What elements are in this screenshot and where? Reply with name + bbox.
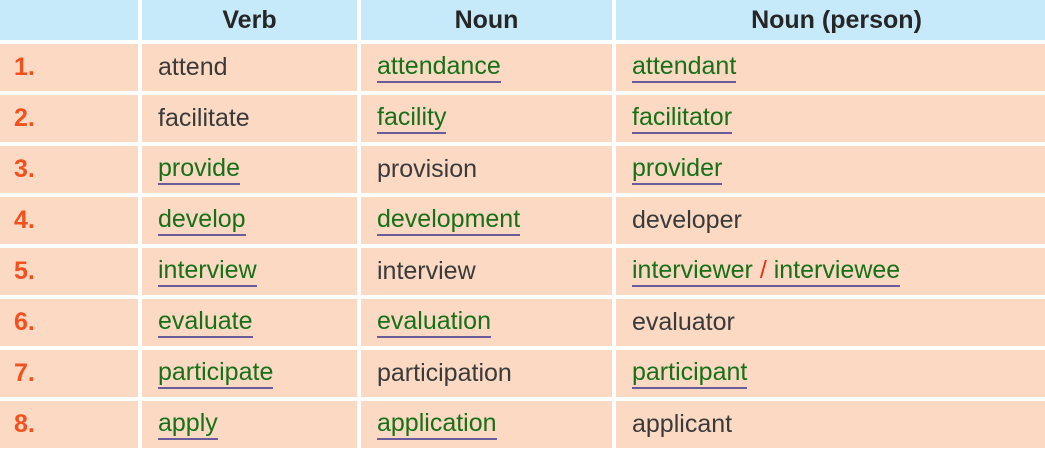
- row-number: 4.: [0, 197, 138, 244]
- cell-noun-person: applicant: [616, 401, 1045, 448]
- word-text-noun-person: applicant: [632, 410, 732, 438]
- header-cell-verb: Verb: [142, 0, 357, 40]
- word-part-secondary: interviewee: [767, 256, 900, 284]
- word-text-noun: participation: [377, 359, 512, 387]
- cell-verb: attend: [142, 44, 357, 91]
- cell-noun: provision: [361, 146, 612, 193]
- word-link-noun[interactable]: evaluation: [377, 308, 491, 337]
- word-text-verb: facilitate: [158, 104, 250, 132]
- word-text-noun: provision: [377, 155, 477, 183]
- cell-verb: apply: [142, 401, 357, 448]
- row-number: 5.: [0, 248, 138, 295]
- word-link-noun[interactable]: application: [377, 410, 497, 439]
- table-body: 1.attendattendanceattendant2.facilitatef…: [0, 44, 1045, 448]
- word-link-noun-person[interactable]: participant: [632, 359, 747, 388]
- cell-noun-person: facilitator: [616, 95, 1045, 142]
- cell-noun-person: evaluator: [616, 299, 1045, 346]
- word-text-verb: attend: [158, 53, 228, 81]
- word-text-noun-person: evaluator: [632, 308, 735, 336]
- word-link-noun-person[interactable]: attendant: [632, 53, 736, 82]
- word-part-primary: interviewer: [632, 256, 760, 284]
- cell-verb: develop: [142, 197, 357, 244]
- cell-noun-person: attendant: [616, 44, 1045, 91]
- word-link-noun[interactable]: attendance: [377, 53, 501, 82]
- cell-verb: provide: [142, 146, 357, 193]
- word-forms-table: Verb Noun Noun (person) 1.attendattendan…: [0, 0, 1045, 452]
- row-number: 6.: [0, 299, 138, 346]
- cell-noun: participation: [361, 350, 612, 397]
- table-header: Verb Noun Noun (person): [0, 0, 1045, 40]
- word-separator: /: [760, 256, 767, 284]
- word-text-noun: interview: [377, 257, 476, 285]
- table-row: 2.facilitatefacilityfacilitator: [0, 95, 1045, 142]
- cell-noun-person: developer: [616, 197, 1045, 244]
- cell-noun: evaluation: [361, 299, 612, 346]
- table-row: 8.applyapplicationapplicant: [0, 401, 1045, 448]
- cell-noun: development: [361, 197, 612, 244]
- row-number: 2.: [0, 95, 138, 142]
- word-link-verb[interactable]: interview: [158, 257, 257, 286]
- word-link-verb[interactable]: develop: [158, 206, 246, 235]
- word-link-verb[interactable]: evaluate: [158, 308, 253, 337]
- cell-noun: facility: [361, 95, 612, 142]
- cell-noun: attendance: [361, 44, 612, 91]
- cell-noun-person: interviewer / interviewee: [616, 248, 1045, 295]
- header-cell-row-number: [0, 0, 138, 40]
- word-link-noun-person[interactable]: provider: [632, 155, 722, 184]
- cell-noun: interview: [361, 248, 612, 295]
- word-text-noun-person: developer: [632, 206, 742, 234]
- row-number: 8.: [0, 401, 138, 448]
- cell-verb: facilitate: [142, 95, 357, 142]
- row-number: 1.: [0, 44, 138, 91]
- row-number: 3.: [0, 146, 138, 193]
- word-link-verb[interactable]: apply: [158, 410, 218, 439]
- word-link-noun[interactable]: facility: [377, 104, 446, 133]
- header-row: Verb Noun Noun (person): [0, 0, 1045, 40]
- row-number: 7.: [0, 350, 138, 397]
- table-row: 4.developdevelopmentdeveloper: [0, 197, 1045, 244]
- word-link-noun-person[interactable]: facilitator: [632, 104, 732, 133]
- word-link-noun[interactable]: development: [377, 206, 520, 235]
- cell-noun-person: participant: [616, 350, 1045, 397]
- word-link-verb[interactable]: provide: [158, 155, 240, 184]
- table-row: 1.attendattendanceattendant: [0, 44, 1045, 91]
- table-row: 3.provideprovisionprovider: [0, 146, 1045, 193]
- cell-noun-person: provider: [616, 146, 1045, 193]
- cell-verb: interview: [142, 248, 357, 295]
- table-row: 6.evaluateevaluationevaluator: [0, 299, 1045, 346]
- word-link-verb[interactable]: participate: [158, 359, 273, 388]
- cell-noun: application: [361, 401, 612, 448]
- table-row: 7.participateparticipationparticipant: [0, 350, 1045, 397]
- cell-verb: evaluate: [142, 299, 357, 346]
- header-cell-noun-person: Noun (person): [616, 0, 1045, 40]
- cell-verb: participate: [142, 350, 357, 397]
- word-link-noun-person[interactable]: interviewer / interviewee: [632, 257, 900, 286]
- table-row: 5.interviewinterviewinterviewer / interv…: [0, 248, 1045, 295]
- header-cell-noun: Noun: [361, 0, 612, 40]
